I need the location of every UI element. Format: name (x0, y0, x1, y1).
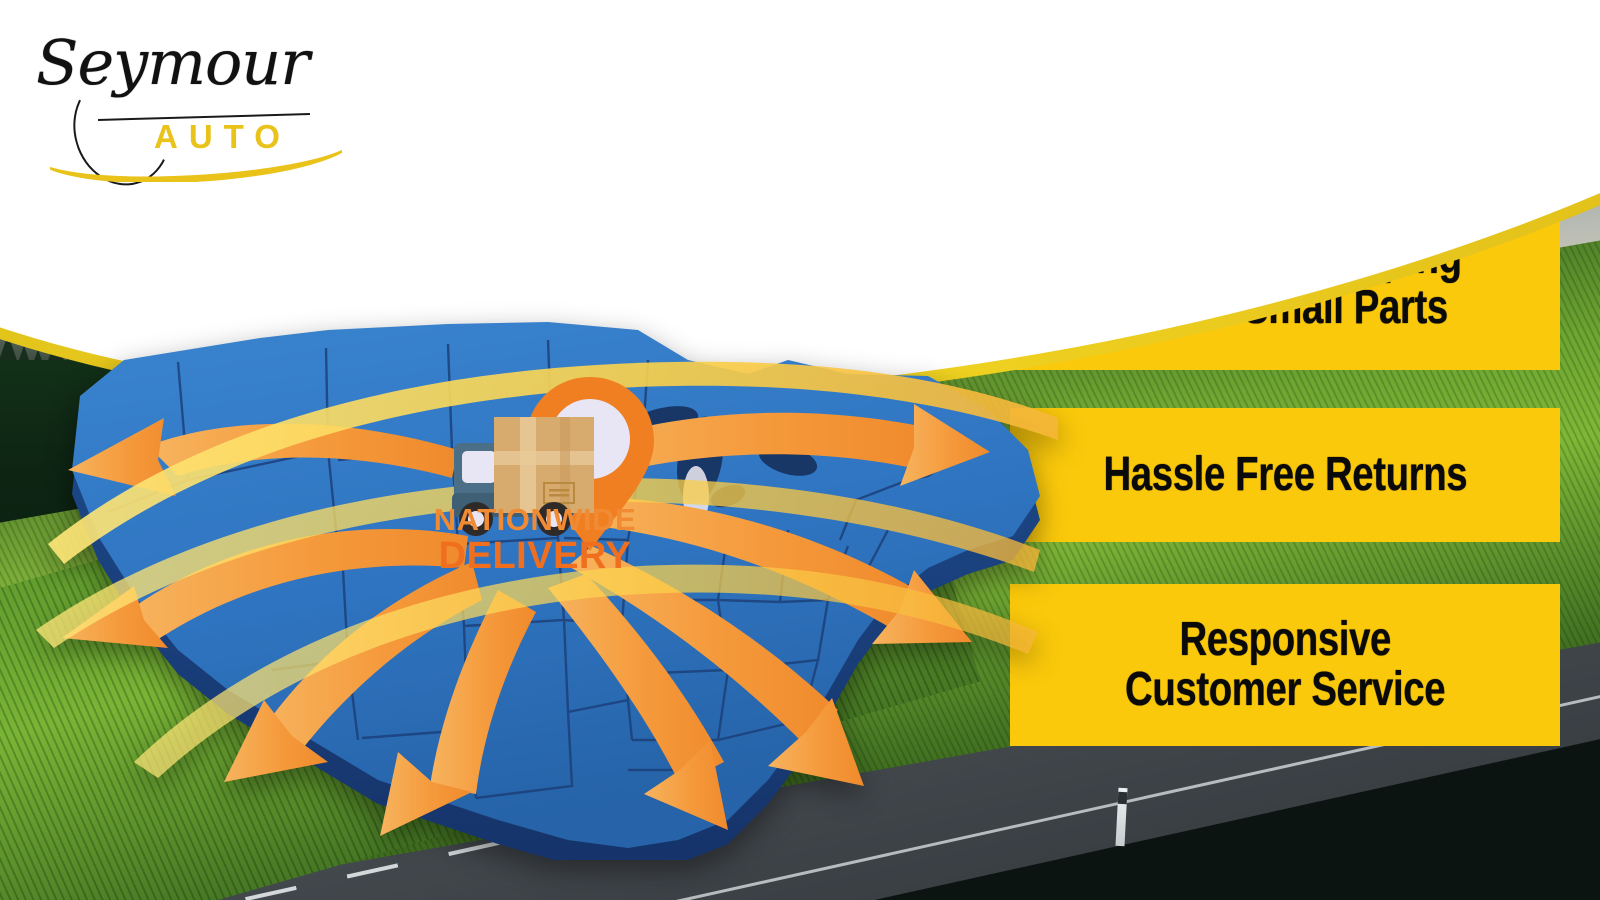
logo-swoosh-icon (50, 142, 342, 182)
feature-line: Customer Service (1125, 665, 1445, 715)
nationwide-text: NATIONWIDE (425, 505, 645, 535)
logo-script-text: Seymour (36, 26, 309, 99)
nationwide-delivery-label: NATIONWIDE DELIVERY (425, 505, 645, 576)
feature-box-hassle-free-returns[interactable]: Hassle Free Returns (1010, 408, 1560, 542)
feature-box-responsive-customer-service[interactable]: Responsive Customer Service (1010, 584, 1560, 746)
banner-canvas: Same Day Shipping On All Small Parts Has… (0, 0, 1600, 900)
seymour-auto-logo[interactable]: Seymour AUTO (32, 22, 332, 172)
feature-line: Responsive (1179, 615, 1391, 665)
delivery-text: DELIVERY (425, 538, 645, 575)
feature-line: Hassle Free Returns (1103, 450, 1467, 500)
